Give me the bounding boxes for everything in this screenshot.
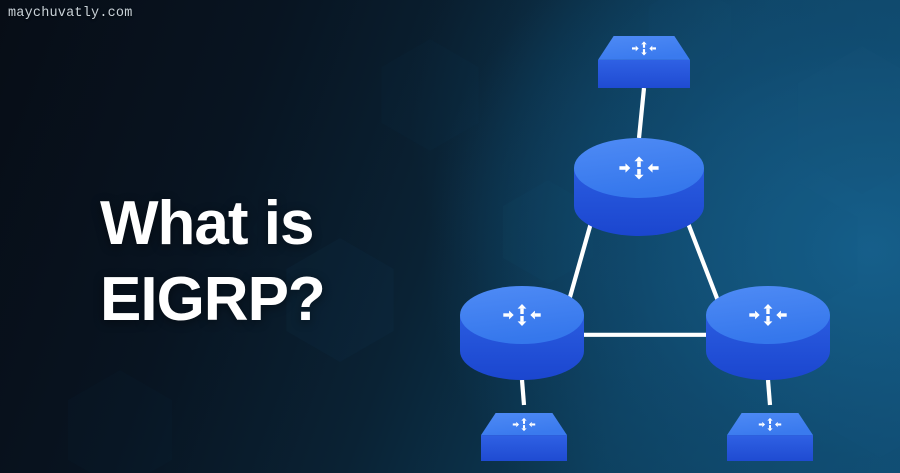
device-node-left-router (460, 286, 584, 380)
router-top (574, 138, 704, 198)
device-node-bottom-left-switch (481, 413, 567, 461)
switch-top-face (598, 36, 690, 60)
device-nodes-group (460, 36, 830, 461)
switch-body (727, 435, 813, 461)
router-top (706, 286, 830, 344)
link-line-left-router-to-bottom-left-switch (522, 380, 524, 405)
device-node-top-switch (598, 36, 690, 88)
page-title: What is EIGRP? (100, 186, 325, 338)
device-node-bottom-right-switch (727, 413, 813, 461)
switch-top-face (727, 413, 813, 435)
page-title-line-1: What is (100, 189, 313, 258)
banner-canvas: What is EIGRP? maychuvatly.com (0, 0, 900, 473)
link-line-right-router-to-bottom-right-switch (768, 380, 770, 405)
switch-body (481, 435, 567, 461)
link-line-top-switch-to-center-router (639, 88, 644, 138)
router-top (460, 286, 584, 344)
device-node-center-router (574, 138, 704, 236)
device-node-right-router (706, 286, 830, 380)
switch-body (598, 60, 690, 88)
page-title-line-2: EIGRP? (100, 262, 325, 338)
switch-top-face (481, 413, 567, 435)
watermark-text: maychuvatly.com (8, 6, 133, 21)
